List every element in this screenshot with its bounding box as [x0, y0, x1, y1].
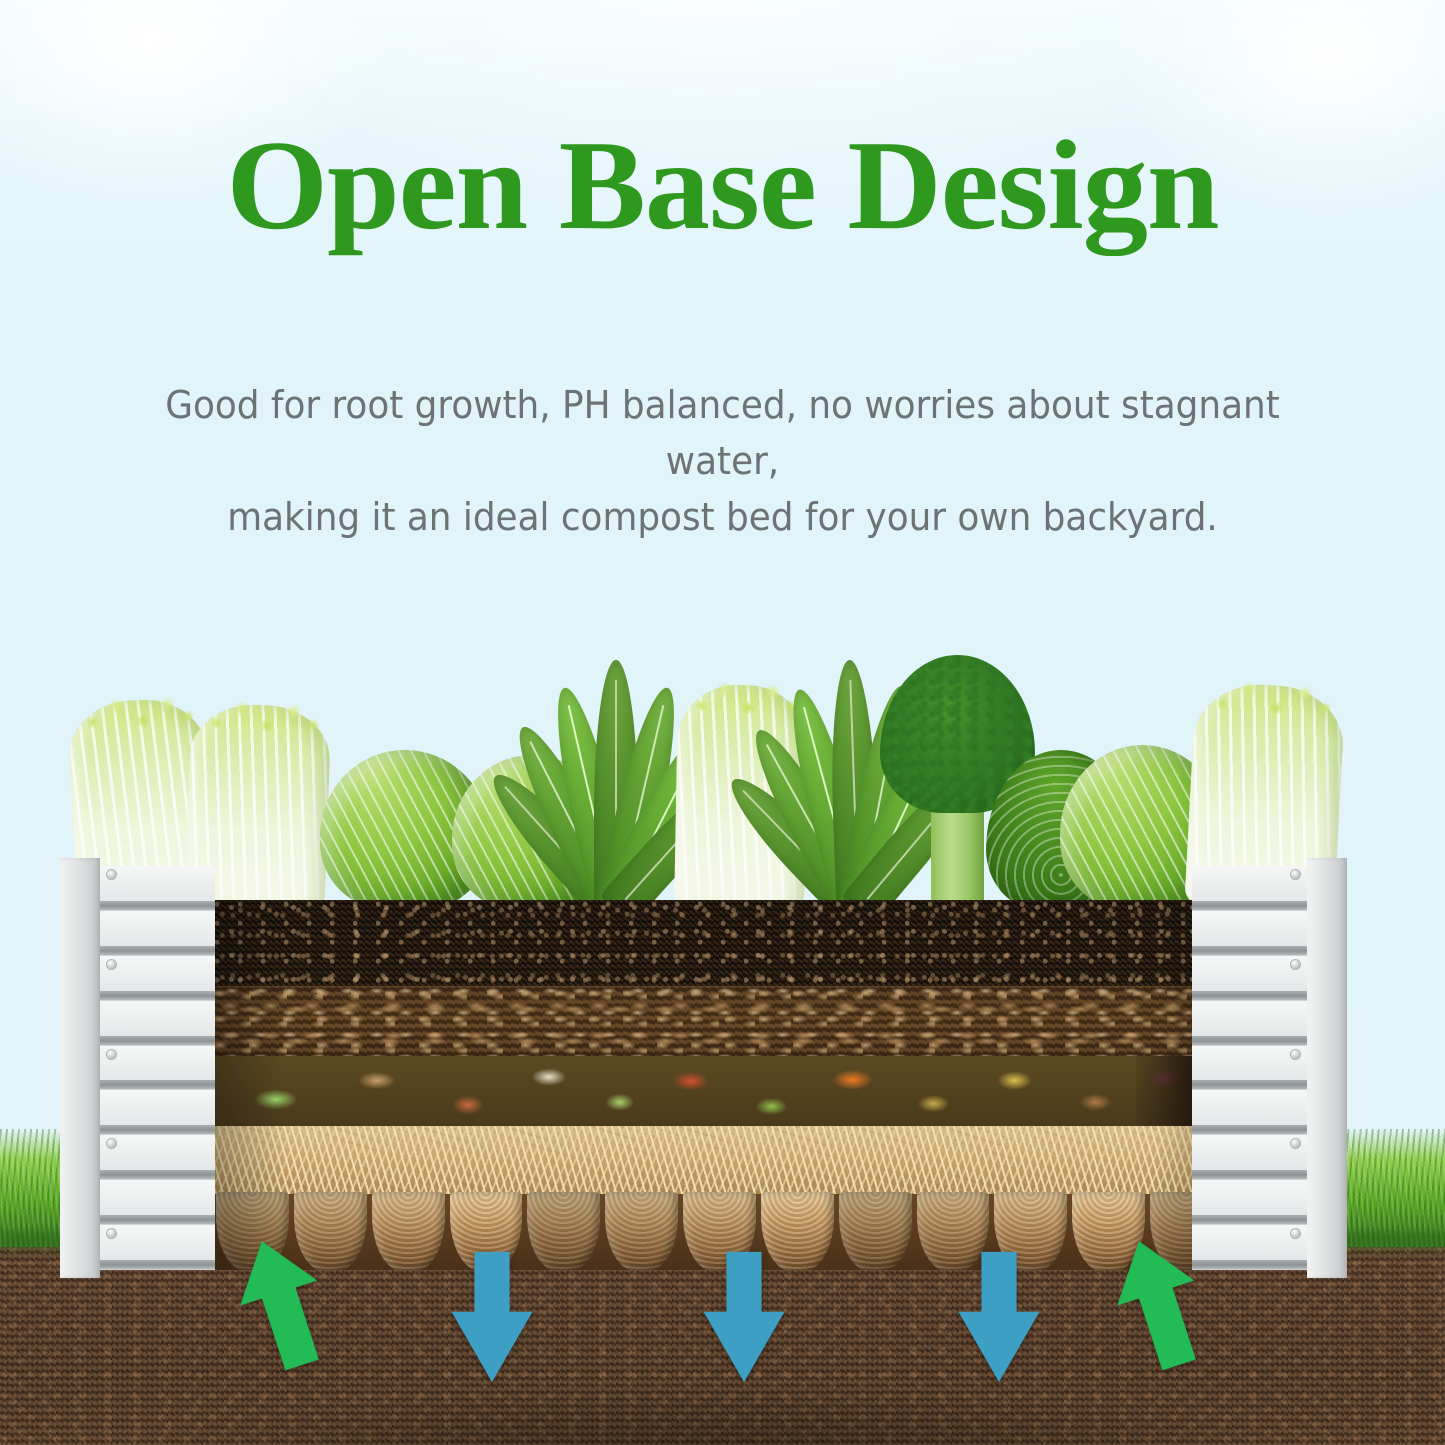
- page-subtitle: Good for root growth, PH balanced, no wo…: [51, 378, 1395, 547]
- planter-slat: [1192, 911, 1307, 956]
- planter-slat: [1192, 1046, 1307, 1091]
- screw-icon: [107, 1050, 116, 1059]
- planter-wall-right: [1192, 866, 1347, 1270]
- planter-slat: [100, 866, 215, 911]
- planter-slat: [100, 911, 215, 956]
- airflow-up-arrow: [238, 1228, 326, 1383]
- product-feature-banner: Open Base Design Good for root growth, P…: [0, 0, 1445, 1445]
- vegetable-row: [0, 600, 1445, 910]
- planter-slat: [1192, 1090, 1307, 1135]
- screw-icon: [107, 960, 116, 969]
- screw-icon: [1291, 1050, 1300, 1059]
- planter-slat: [1192, 866, 1307, 911]
- page-title: Open Base Design: [0, 118, 1445, 254]
- layer-food-scraps: [215, 1056, 1227, 1126]
- planter-slat: [100, 1135, 215, 1180]
- planter-slat: [100, 1090, 215, 1135]
- screw-icon: [1291, 1139, 1300, 1148]
- layer-mulch-bark: [215, 986, 1227, 1056]
- planter-slat: [100, 1046, 215, 1091]
- layer-compost-topsoil: [215, 900, 1227, 986]
- layer-straw: [215, 1126, 1227, 1194]
- screw-icon: [1291, 870, 1300, 879]
- slat-stack-right: [1192, 866, 1307, 1270]
- slat-stack-left: [100, 866, 215, 1270]
- drainage-down-arrow: [955, 1242, 1043, 1397]
- screw-icon: [107, 870, 116, 879]
- screw-icon: [1291, 960, 1300, 969]
- planter-wall-left: [60, 866, 215, 1270]
- plant-leafy-greens: [556, 660, 676, 910]
- screw-icon: [107, 1139, 116, 1148]
- subtitle-line-2: making it an ideal compost bed for your …: [106, 490, 1338, 546]
- planter-slat: [1192, 1001, 1307, 1046]
- subtitle-line-1: Good for root growth, PH balanced, no wo…: [106, 378, 1338, 490]
- drainage-down-arrow: [448, 1242, 536, 1397]
- drainage-down-arrow: [700, 1242, 788, 1397]
- planter-slat: [1192, 956, 1307, 1001]
- planter-slat: [100, 956, 215, 1001]
- flow-arrow-group: [0, 1215, 1445, 1445]
- airflow-up-arrow: [1115, 1228, 1203, 1383]
- planter-slat: [1192, 1135, 1307, 1180]
- planter-slat: [100, 1001, 215, 1046]
